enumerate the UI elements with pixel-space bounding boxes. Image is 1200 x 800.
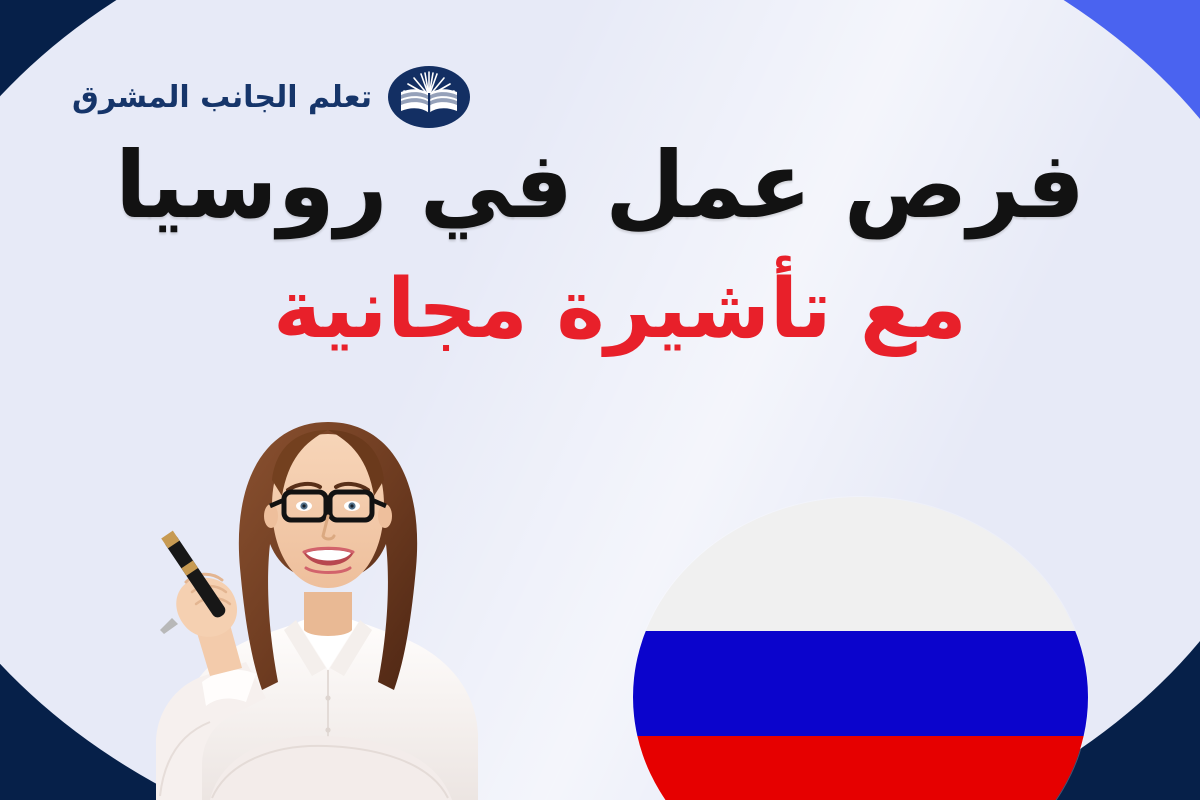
- brand-logo-text: تعلم الجانب المشرق: [72, 80, 372, 115]
- open-book-sunrise-logo-icon: [388, 66, 470, 128]
- businesswoman-photo: [60, 330, 580, 800]
- brand-logo: تعلم الجانب المشرق: [72, 66, 470, 128]
- flag-stripe-white: [633, 497, 1088, 631]
- russia-flag-icon: [633, 497, 1088, 800]
- flag-stripe-blue: [633, 631, 1088, 737]
- promo-banner: تعلم الجانب المشرق فرص عمل في روسيا مع ت…: [0, 0, 1200, 800]
- flag-stripe-red: [633, 736, 1088, 800]
- hand-holding-pen: [160, 531, 237, 637]
- headline-title: فرص عمل في روسيا: [0, 136, 1200, 235]
